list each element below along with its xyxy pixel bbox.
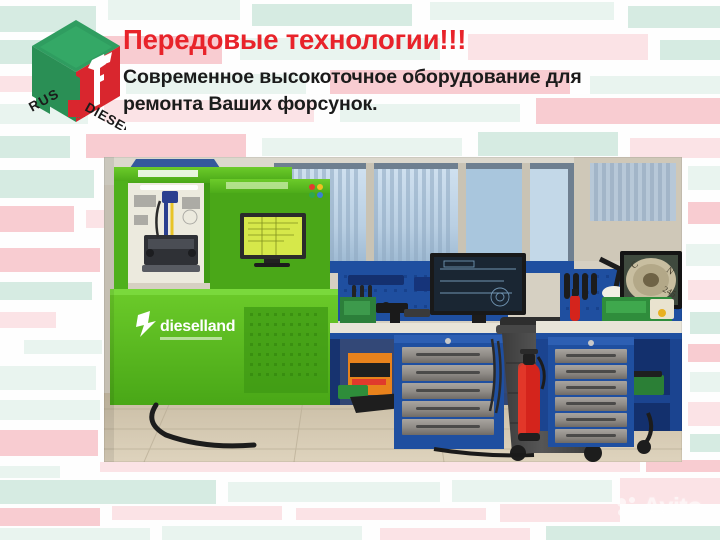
background-stripe: [228, 482, 440, 502]
background-stripe: [0, 206, 74, 232]
avito-wordmark: Avito: [643, 495, 702, 520]
background-stripe: [452, 480, 612, 502]
background-stripe: [688, 202, 720, 224]
background-stripe: [686, 244, 720, 266]
background-stripe: [112, 506, 282, 520]
page-title: Передовые технологии!!!: [123, 26, 466, 55]
avito-watermark: Avito: [617, 494, 702, 520]
background-stripe: [100, 462, 640, 472]
background-stripe: [24, 340, 102, 354]
background-stripe: [690, 312, 720, 334]
background-stripe: [0, 366, 96, 390]
background-stripe: [0, 528, 150, 540]
background-stripe: [0, 248, 100, 272]
avito-dots-icon: [617, 497, 639, 517]
background-stripe: [0, 430, 98, 456]
background-stripe: [0, 400, 100, 420]
background-stripe: [688, 280, 720, 300]
background-stripe: [380, 528, 530, 540]
background-stripe: [688, 166, 720, 190]
header-banner: RUS DIESEL Передовые технологии!!! Совре…: [0, 0, 720, 150]
background-stripe: [690, 434, 720, 452]
rus-diesel-logo: RUS DIESEL: [26, 18, 126, 130]
background-stripe: [0, 508, 100, 526]
workshop-photo: dieselland: [104, 157, 682, 462]
background-stripe: [0, 282, 92, 300]
background-stripe: [688, 402, 720, 426]
background-stripe: [0, 170, 94, 198]
page-subtitle: Современное высокоточное оборудование дл…: [123, 64, 613, 118]
svg-text:dieselland: dieselland: [160, 318, 235, 335]
background-stripe: [86, 210, 104, 228]
background-stripe: [0, 466, 60, 478]
background-stripe: [296, 508, 486, 520]
background-stripe: [162, 526, 362, 540]
background-stripe: [500, 504, 620, 522]
background-stripe: [546, 526, 720, 540]
background-stripe: [0, 480, 216, 504]
advert-card: RUS DIESEL Передовые технологии!!! Совре…: [0, 0, 720, 540]
background-stripe: [690, 372, 720, 392]
background-stripe: [0, 312, 56, 328]
background-stripe: [688, 344, 720, 362]
